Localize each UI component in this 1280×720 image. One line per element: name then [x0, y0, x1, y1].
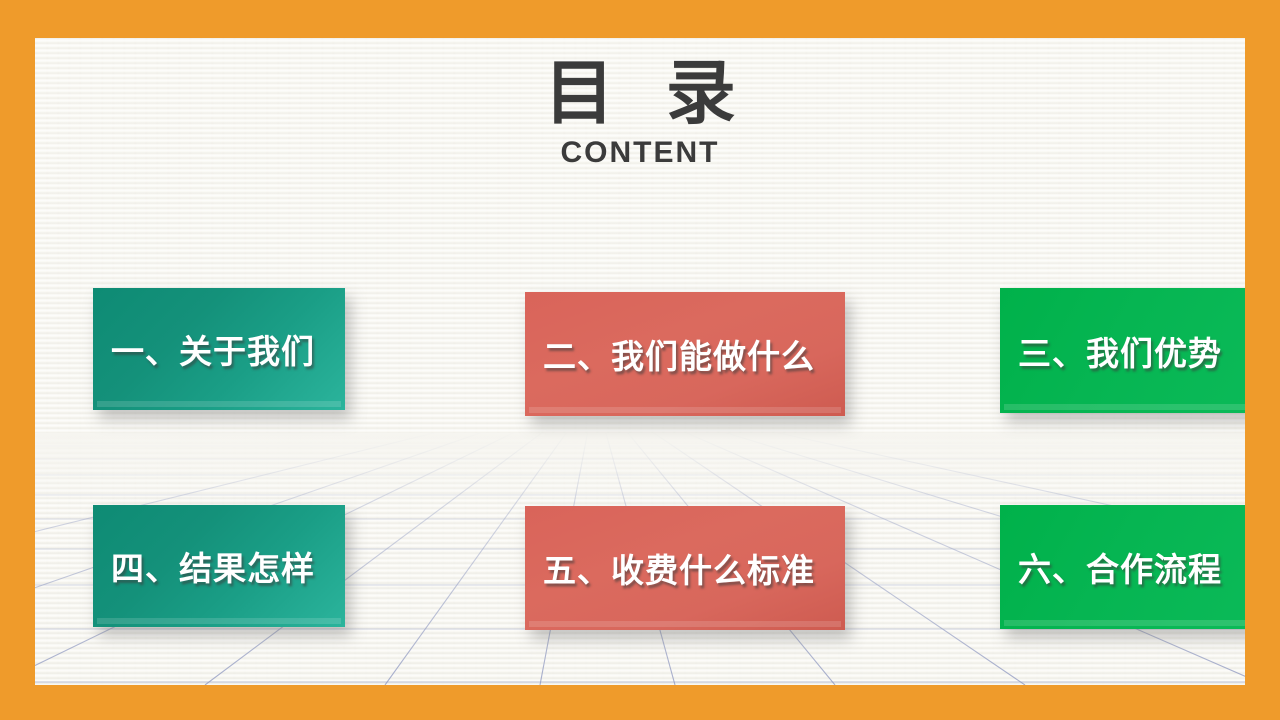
page-title: 目 录 [35, 56, 1245, 132]
toc-item-5[interactable]: 五、收费什么标准 [525, 506, 845, 630]
toc-item-3[interactable]: 三、我们优势 [1000, 288, 1245, 413]
toc-item-4[interactable]: 四、结果怎样 [93, 505, 345, 627]
toc-item-label: 一、关于我们 [93, 325, 345, 373]
floor-horizon-haze [35, 433, 1245, 503]
toc-item-label: 六、合作流程 [1000, 543, 1245, 591]
slide-panel: 目 录 CONTENT 一、关于我们 二、我们能做什么 三、我们优势 四、结果怎… [35, 38, 1245, 685]
toc-item-6[interactable]: 六、合作流程 [1000, 505, 1245, 629]
toc-item-label: 四、结果怎样 [93, 542, 345, 590]
toc-item-label: 三、我们优势 [1000, 327, 1245, 375]
toc-item-2[interactable]: 二、我们能做什么 [525, 292, 845, 416]
toc-item-1[interactable]: 一、关于我们 [93, 288, 345, 410]
toc-item-label: 五、收费什么标准 [525, 544, 845, 592]
slide-heading: 目 录 CONTENT [35, 56, 1245, 170]
page-subtitle: CONTENT [35, 136, 1245, 170]
slide-root: 目 录 CONTENT 一、关于我们 二、我们能做什么 三、我们优势 四、结果怎… [0, 0, 1280, 720]
toc-item-label: 二、我们能做什么 [525, 330, 845, 378]
